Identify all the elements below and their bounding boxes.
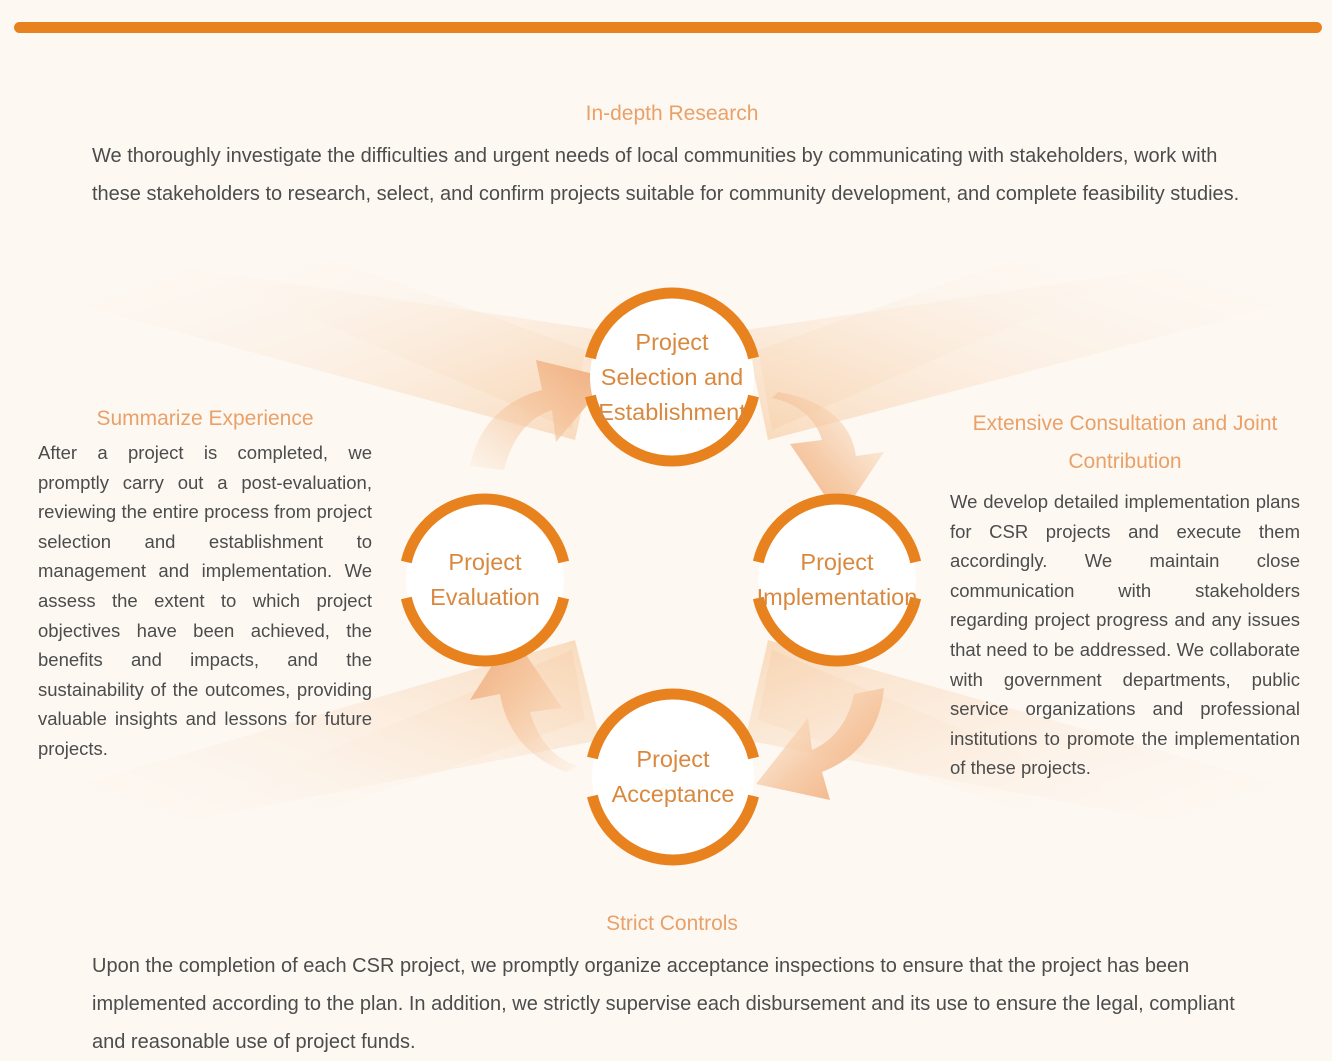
node-label-line1: Project: [636, 742, 709, 777]
cycle-node-label: Project Evaluation: [372, 489, 598, 671]
cycle-node-label: Project Implementation: [724, 489, 950, 671]
node-label-line2: Acceptance: [612, 777, 735, 812]
section-extensive-consultation: Extensive Consultation and Joint Contrib…: [950, 405, 1300, 783]
cycle-node-project-evaluation[interactable]: Project Evaluation: [394, 489, 576, 671]
node-label-line2: Evaluation: [430, 580, 540, 615]
cycle-node-project-implementation[interactable]: Project Implementation: [746, 489, 928, 671]
section-body-left: After a project is completed, we promptl…: [38, 438, 372, 764]
node-label-line2: Implementation: [757, 580, 918, 615]
diagram-canvas: In-depth Research We thoroughly investig…: [0, 0, 1332, 1061]
cycle-node-project-selection-and-establishment[interactable]: Project Selection and Establishment: [578, 283, 766, 471]
node-label-line1: Project: [800, 545, 873, 580]
node-label-line2: Selection and: [601, 360, 743, 395]
node-label-line3: Establishment: [598, 395, 746, 430]
section-heading-right: Extensive Consultation and Joint Contrib…: [950, 405, 1300, 481]
node-label-line1: Project: [635, 325, 708, 360]
cycle-node-label: Project Acceptance: [558, 684, 788, 870]
section-heading-bottom: Strict Controls: [92, 910, 1252, 937]
cycle-node-label: Project Selection and Establishment: [556, 283, 788, 471]
cycle-node-project-acceptance[interactable]: Project Acceptance: [580, 684, 766, 870]
section-body-right: We develop detailed implementation plans…: [950, 487, 1300, 783]
section-body-bottom: Upon the completion of each CSR project,…: [92, 947, 1252, 1061]
section-body-top: We thoroughly investigate the difficulti…: [92, 137, 1252, 213]
section-summarize-experience: Summarize Experience After a project is …: [38, 405, 372, 764]
section-heading-left: Summarize Experience: [38, 405, 372, 432]
section-heading-top: In-depth Research: [92, 100, 1252, 127]
section-strict-controls: Strict Controls Upon the completion of e…: [92, 910, 1252, 1061]
node-label-line1: Project: [448, 545, 521, 580]
section-in-depth-research: In-depth Research We thoroughly investig…: [92, 100, 1252, 213]
top-accent-bar: [14, 22, 1322, 33]
